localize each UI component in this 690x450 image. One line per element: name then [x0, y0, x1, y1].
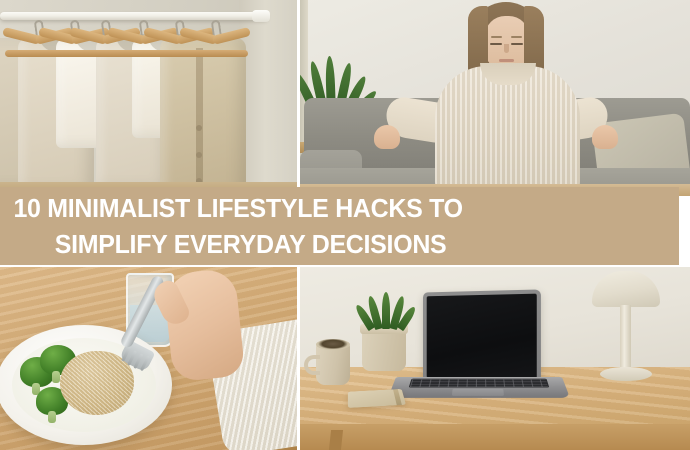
laptop-lid: [423, 289, 541, 384]
succulent-leaf: [382, 292, 390, 329]
laptop-screen-display: [427, 294, 537, 381]
clothing-rail: [0, 12, 268, 20]
laptop-keyboard: [409, 379, 550, 388]
hanger-bar: [182, 50, 248, 57]
table-lamp-base: [600, 367, 652, 381]
nose: [504, 44, 509, 53]
photo-panel-meal: [0, 267, 297, 450]
notebook-elastic-band: [393, 389, 402, 405]
cardigan-button-2: [196, 152, 202, 158]
laptop-trackpad: [452, 389, 504, 396]
headline-line-1: 10 MINIMALIST LIFESTYLE HACKS TO: [0, 190, 652, 226]
photo-panel-meditation: [300, 0, 690, 196]
cardigan-button-1: [196, 125, 202, 131]
keyboard-keys: [410, 379, 548, 387]
cardigan-placket: [196, 48, 203, 196]
photo-panel-closet: [0, 0, 297, 196]
knit-sweater: [435, 66, 580, 196]
hand-right-mudra: [592, 125, 618, 149]
eye-right-closed: [511, 43, 523, 45]
mug-rim: [316, 339, 350, 350]
table-lamp-stem: [620, 305, 631, 373]
dinner-plate: [0, 325, 172, 445]
mouth: [499, 59, 514, 62]
collage-graphic: 10 MINIMALIST LIFESTYLE HACKS TO SIMPLIF…: [0, 0, 690, 450]
headline-banner: 10 MINIMALIST LIFESTYLE HACKS TO SIMPLIF…: [0, 187, 679, 265]
garment-cardigan: [160, 38, 246, 196]
photo-panel-desk: [300, 267, 690, 450]
laptop-base: [388, 377, 570, 398]
eyebrow-right: [511, 36, 522, 38]
notebook: [348, 389, 406, 408]
hand-left-mudra: [374, 125, 400, 149]
broccoli-stem: [52, 371, 60, 383]
desk-front-edge: [300, 424, 690, 450]
clothing-rail-cap: [252, 10, 270, 22]
sweater-texture: [435, 66, 580, 196]
eyebrow-left: [491, 36, 502, 38]
mug-handle: [304, 355, 320, 375]
headline-line-2: SIMPLIFY EVERYDAY DECISIONS: [0, 226, 652, 262]
broccoli-stem: [48, 411, 56, 423]
eye-left-closed: [490, 43, 502, 45]
desk-leg: [329, 430, 343, 450]
